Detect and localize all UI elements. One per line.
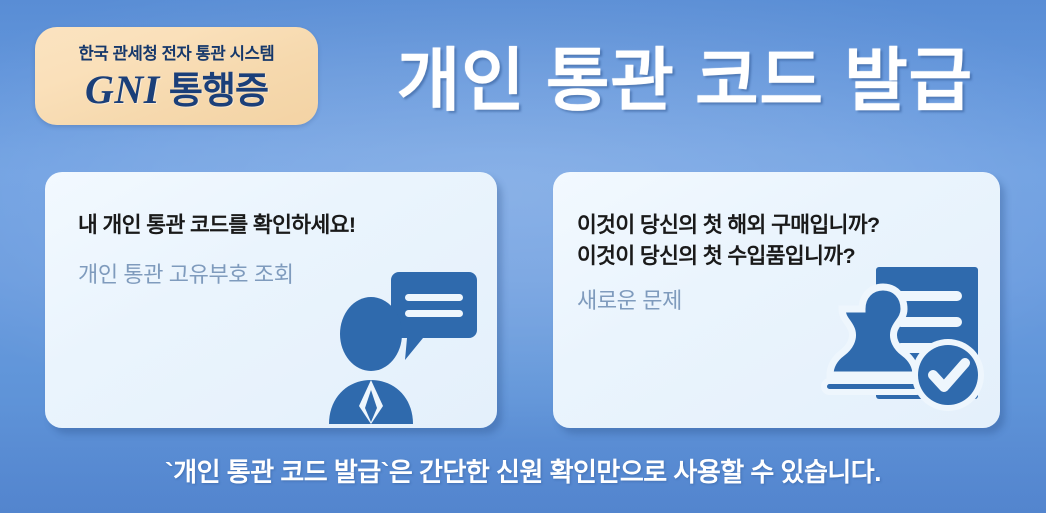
card-link-label[interactable]: 새로운 문제 bbox=[577, 287, 1000, 316]
brand-badge-latin-name: GNI bbox=[85, 70, 160, 110]
promo-banner: 한국 관세청 전자 통관 시스템 GNI 통행증 개인 통관 코드 발급 내 개… bbox=[0, 0, 1046, 513]
brand-badge-korean-name: 통행증 bbox=[169, 72, 268, 109]
person-speech-bubble-icon bbox=[319, 272, 487, 424]
brand-badge-subtitle: 한국 관세청 전자 통관 시스템 bbox=[79, 46, 275, 63]
card-check-my-code[interactable]: 내 개인 통관 코드를 확인하세요! 개인 통관 고유부호 조회 bbox=[45, 172, 497, 428]
card-text-block: 내 개인 통관 코드를 확인하세요! 개인 통관 고유부호 조회 bbox=[45, 172, 497, 289]
card-text-block: 이것이 당신의 첫 해외 구매입니까? 이것이 당신의 첫 수입품입니까? 새로… bbox=[553, 172, 1000, 316]
brand-badge: 한국 관세청 전자 통관 시스템 GNI 통행증 bbox=[35, 27, 318, 125]
card-first-overseas-purchase[interactable]: 이것이 당신의 첫 해외 구매입니까? 이것이 당신의 첫 수입품입니까? 새로… bbox=[553, 172, 1000, 428]
card-heading-line-2: 이것이 당신의 첫 수입품입니까? bbox=[577, 241, 1000, 272]
card-heading-line-1: 이것이 당신의 첫 해외 구매입니까? bbox=[577, 210, 1000, 241]
card-link-label[interactable]: 개인 통관 고유부호 조회 bbox=[78, 261, 497, 290]
card-heading: 내 개인 통관 코드를 확인하세요! bbox=[78, 210, 497, 241]
footer-caption: `개인 통관 코드 발급`은 간단한 신원 확인만으로 사용할 수 있습니다. bbox=[0, 452, 1046, 489]
page-title: 개인 통관 코드 발급 bbox=[352, 24, 1018, 124]
brand-badge-wordmark: GNI 통행증 bbox=[85, 70, 268, 110]
